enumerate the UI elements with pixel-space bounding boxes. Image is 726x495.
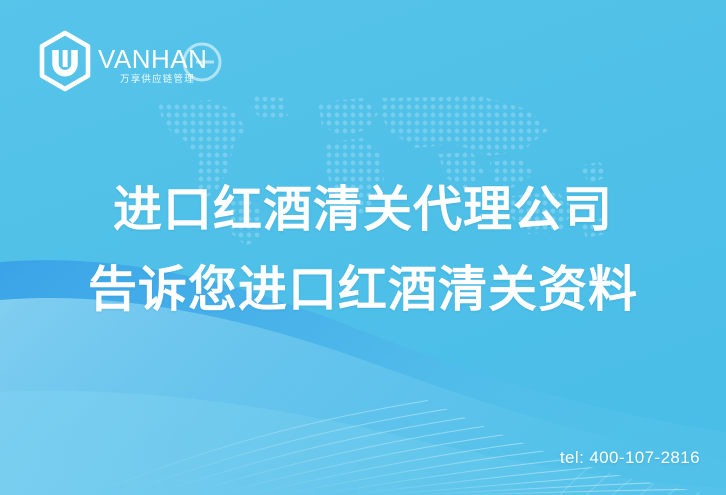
contact-phone[interactable]: tel: 400-107-2816	[560, 448, 700, 468]
headline-line-1: 进口红酒清关代理公司	[0, 170, 726, 250]
svg-text:VANHAN: VANHAN	[98, 44, 207, 74]
brand-logo[interactable]: VANHAN 万享供应链管理	[34, 30, 224, 92]
svg-text:万享供应链管理: 万享供应链管理	[120, 73, 195, 85]
vanhang-wordmark: VANHAN 万享供应链管理	[98, 34, 224, 88]
hexagon-logo-icon	[34, 30, 96, 92]
promo-banner: VANHAN 万享供应链管理 进口红酒清关代理公司 告诉您进口红酒清关资料 te…	[0, 0, 726, 495]
headline-line-2: 告诉您进口红酒清关资料	[0, 250, 726, 330]
headline: 进口红酒清关代理公司 告诉您进口红酒清关资料	[0, 170, 726, 330]
